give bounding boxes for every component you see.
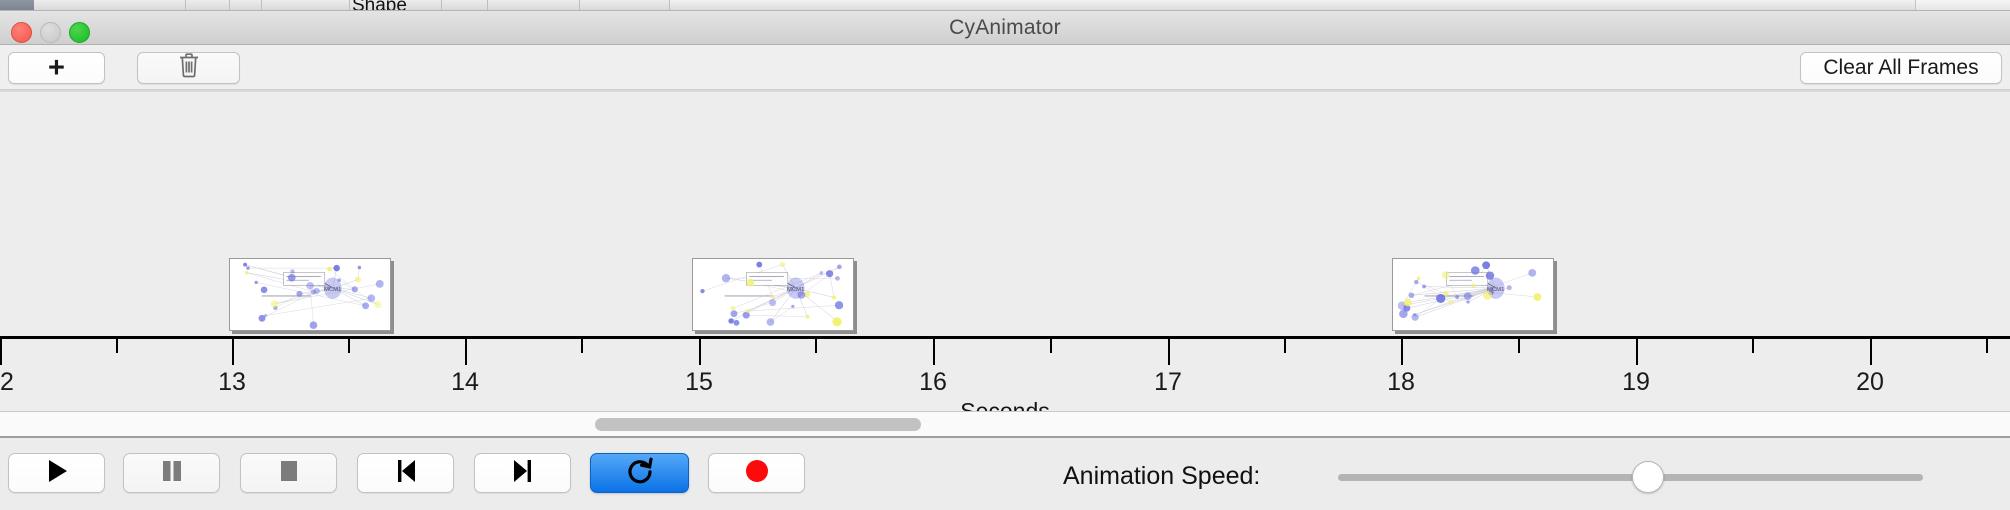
- skip-forward-icon: [512, 458, 534, 489]
- timeline-scrollbar[interactable]: [0, 412, 2010, 438]
- ruler-tick-13: [232, 339, 234, 365]
- ruler-label-20: 20: [1856, 368, 1884, 397]
- animation-speed-label: Animation Speed:: [1063, 462, 1260, 491]
- background-window-strip: Shape: [0, 0, 2010, 11]
- axis-title: Seconds: [0, 398, 2010, 412]
- animation-speed-slider-thumb[interactable]: [1632, 461, 1664, 493]
- delete-frame-button[interactable]: [137, 52, 240, 84]
- minimize-button[interactable]: [40, 22, 61, 43]
- stop-button[interactable]: [240, 453, 337, 493]
- timeline-top-divider: [0, 90, 2010, 92]
- plus-icon: +: [48, 58, 65, 78]
- scrollbar-thumb[interactable]: [595, 418, 921, 431]
- ruler-tick-17: [1168, 339, 1170, 365]
- pause-button[interactable]: [123, 453, 220, 493]
- clear-all-frames-label: Clear All Frames: [1823, 56, 1978, 80]
- toolbar: + Clear All Frames: [0, 45, 2010, 90]
- ruler-tick-minor-11: [1284, 339, 1286, 353]
- ruler-tick-minor-1: [116, 339, 118, 353]
- title-bar: CyAnimator: [0, 11, 2010, 45]
- ruler-tick-12: [0, 339, 2, 365]
- ruler-tick-19: [1636, 339, 1638, 365]
- ruler-tick-15: [699, 339, 701, 365]
- ruler-label-14: 14: [451, 368, 479, 397]
- ruler-tick-14: [465, 339, 467, 365]
- ruler-label-12: 12: [0, 368, 14, 397]
- record-button[interactable]: [708, 453, 805, 493]
- skip-to-start-button[interactable]: [357, 453, 454, 493]
- ruler-baseline: [0, 336, 2010, 339]
- window-title: CyAnimator: [949, 16, 1061, 40]
- ruler-tick-minor-13: [1518, 339, 1520, 353]
- animation-speed-slider-track[interactable]: [1338, 474, 1923, 481]
- ruler-tick-minor-9: [1050, 339, 1052, 353]
- frame-thumbnail-1[interactable]: MCM1: [229, 258, 391, 331]
- close-button[interactable]: [11, 22, 32, 43]
- traffic-light-group: [11, 22, 90, 43]
- record-icon: [744, 458, 770, 489]
- ruler-label-15: 15: [685, 368, 713, 397]
- play-icon: [46, 458, 68, 489]
- zoom-button[interactable]: [69, 22, 90, 43]
- pause-icon: [160, 458, 184, 489]
- play-button[interactable]: [8, 453, 105, 493]
- ruler-tick-16: [933, 339, 935, 365]
- background-scrollbar[interactable]: [1915, 0, 2010, 11]
- background-window-label: Shape: [352, 0, 407, 11]
- timeline-panel[interactable]: MCM1 MCM1 MCM1 121314151617181920 Secon: [0, 90, 2010, 412]
- skip-back-icon: [395, 458, 417, 489]
- timeline-ruler: 121314151617181920 Seconds: [0, 336, 2010, 412]
- ruler-label-17: 17: [1154, 368, 1182, 397]
- playback-toolbar: Animation Speed:: [0, 438, 2010, 510]
- clear-all-frames-button[interactable]: Clear All Frames: [1800, 52, 2002, 84]
- add-frame-button[interactable]: +: [8, 52, 105, 84]
- ruler-label-18: 18: [1387, 368, 1415, 397]
- svg-text:MCM1: MCM1: [324, 287, 341, 293]
- stop-icon: [278, 459, 300, 488]
- ruler-tick-minor-15: [1752, 339, 1754, 353]
- ruler-label-13: 13: [218, 368, 246, 397]
- ruler-tick-minor-5: [581, 339, 583, 353]
- ruler-tick-18: [1401, 339, 1403, 365]
- ruler-tick-minor-17: [1986, 339, 1988, 353]
- frame-thumbnail-2[interactable]: MCM1: [692, 258, 854, 331]
- loop-button[interactable]: [590, 453, 689, 493]
- frame-thumbnail-3[interactable]: MCM1: [1392, 258, 1554, 331]
- ruler-tick-20: [1870, 339, 1872, 365]
- trash-icon: [178, 52, 200, 84]
- ruler-label-16: 16: [919, 368, 947, 397]
- cyanimator-window: Shape CyAnimator + Clear Al: [0, 0, 2010, 510]
- ruler-label-19: 19: [1622, 368, 1650, 397]
- skip-to-end-button[interactable]: [474, 453, 571, 493]
- ruler-tick-minor-3: [348, 339, 350, 353]
- loop-icon: [625, 456, 655, 491]
- ruler-tick-minor-7: [815, 339, 817, 353]
